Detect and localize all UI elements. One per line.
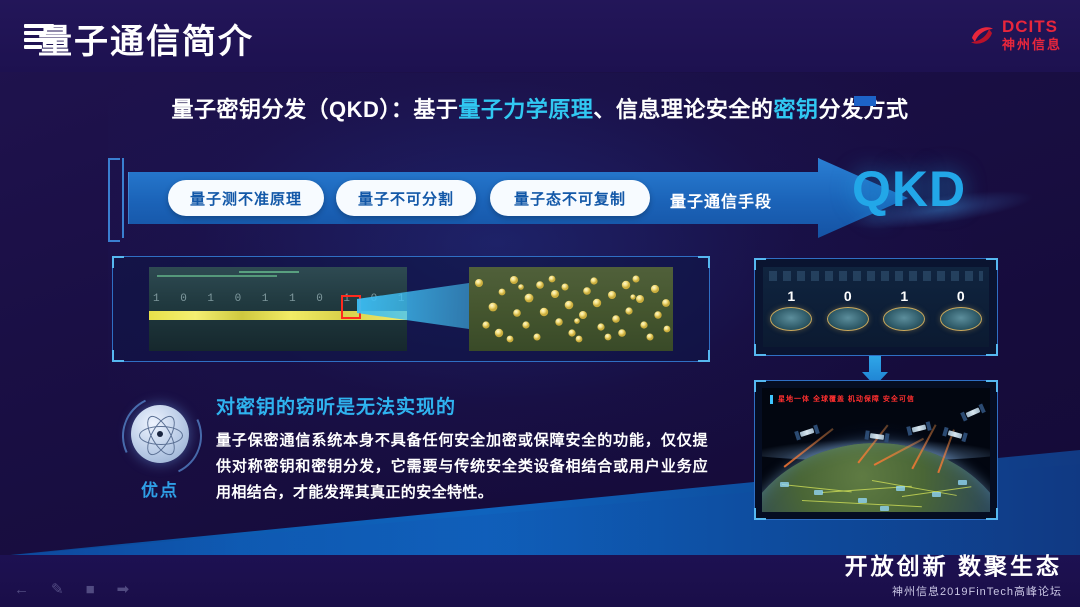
subtitle: 量子密钥分发（QKD）：基于量子力学原理、信息理论安全的密钥分发方式 <box>0 92 1080 124</box>
logo-text-cn: 神州信息 <box>1002 38 1062 51</box>
back-arrow-icon[interactable]: ← <box>14 582 29 597</box>
ground-station-node <box>932 492 941 497</box>
page-title: 量子通信简介 <box>38 14 254 63</box>
bit-gauge: 0 <box>938 289 984 331</box>
advantage-icon-group: 优点 <box>122 396 208 496</box>
advantage-headline: 对密钥的窃听是无法实现的 <box>216 392 456 419</box>
map-header-text: 星地一体 全球覆盖 机动保障 安全可信 <box>770 394 915 404</box>
advantage-label: 优点 <box>122 476 198 501</box>
dcits-swirl-icon <box>969 22 995 48</box>
corner-marker <box>698 256 710 268</box>
ground-station-node <box>780 482 789 487</box>
subtitle-part1: 量子密钥分发（QKD）：基于 <box>172 97 459 122</box>
atom-nucleus-icon <box>157 431 163 437</box>
footer-slogan: 开放创新 数聚生态 <box>845 547 1062 581</box>
qkd-detector-panel: 1 0 1 0 <box>754 258 998 356</box>
arrow-label: 量子通信手段 <box>670 188 772 212</box>
photon-dots <box>469 267 673 351</box>
satellite-map-image: 星地一体 全球覆盖 机动保障 安全可信 <box>762 388 990 512</box>
qkd-wordmark: QKD <box>852 160 966 218</box>
bit-gauge: 1 <box>768 289 814 331</box>
ground-station-node <box>896 486 905 491</box>
ground-station-node <box>858 498 867 503</box>
pill-no-cloning[interactable]: 量子态不可复制 <box>490 180 650 216</box>
pill-quantum-uncertainty[interactable]: 量子测不准原理 <box>168 180 324 216</box>
bit-gauge-row: 1 0 1 0 <box>763 289 989 331</box>
gauge-oval-icon <box>827 307 869 331</box>
slide-canvas: 量子通信简介 DCITS 神州信息 量子密钥分发（QKD）：基于量子力学原理、信… <box>0 0 1080 607</box>
photon-zoom-image <box>469 267 673 351</box>
subtitle-highlight-1: 量子力学原理 <box>458 97 593 122</box>
photon-illustration-panel: 1 0 1 0 1 1 0 1 0 1 1 0 1 1 0 <box>112 256 710 362</box>
atom-disc <box>131 405 189 463</box>
bottom-toolbar[interactable]: ← ✎ ■ ➡ <box>14 582 129 597</box>
detector-header-strip <box>769 271 983 281</box>
scan-line <box>239 271 299 273</box>
arrow-tail-bracket <box>108 158 120 242</box>
gauge-oval-icon <box>883 307 925 331</box>
bit-value: 1 <box>881 289 927 303</box>
bit-gauge: 1 <box>881 289 927 331</box>
subtitle-part2: 、信息理论安全的 <box>593 97 773 122</box>
map-header-label: 星地一体 全球覆盖 机动保障 安全可信 <box>778 394 915 404</box>
bit-value: 1 <box>768 289 814 303</box>
square-icon[interactable]: ■ <box>86 582 95 597</box>
logo-text-en: DCITS <box>1002 18 1062 35</box>
scan-line <box>157 275 277 277</box>
arrow-tail-line <box>122 158 124 238</box>
advantage-body-text: 量子保密通信系统本身不具备任何安全加密或保障安全的功能，仅仅提供对称密钥和密钥分… <box>216 428 708 506</box>
pill-quantum-indivisible[interactable]: 量子不可分割 <box>336 180 476 216</box>
header-tick-icon <box>770 395 773 404</box>
corner-marker <box>698 350 710 362</box>
process-arrow-band: 量子测不准原理 量子不可分割 量子态不可复制 量子通信手段 <box>108 152 908 244</box>
pencil-icon[interactable]: ✎ <box>51 582 64 597</box>
monitor-stand <box>854 96 876 106</box>
bit-value: 0 <box>938 289 984 303</box>
ground-station-node <box>958 480 967 485</box>
ground-station-node <box>814 490 823 495</box>
forward-arrow-icon[interactable]: ➡ <box>117 582 130 597</box>
satellite-network-panel: 星地一体 全球覆盖 机动保障 安全可信 <box>754 380 998 520</box>
corner-marker <box>112 256 124 268</box>
corner-marker <box>112 350 124 362</box>
ground-station-node <box>880 506 889 511</box>
gauge-oval-icon <box>940 307 982 331</box>
footer-event-name: 神州信息2019FinTech高峰论坛 <box>892 583 1062 599</box>
detector-screen: 1 0 1 0 <box>763 267 989 347</box>
bit-gauge: 0 <box>825 289 871 331</box>
gauge-oval-icon <box>770 307 812 331</box>
bit-value: 0 <box>825 289 871 303</box>
brand-logo: DCITS 神州信息 <box>969 18 1062 51</box>
subtitle-highlight-2: 密钥 <box>773 97 818 122</box>
